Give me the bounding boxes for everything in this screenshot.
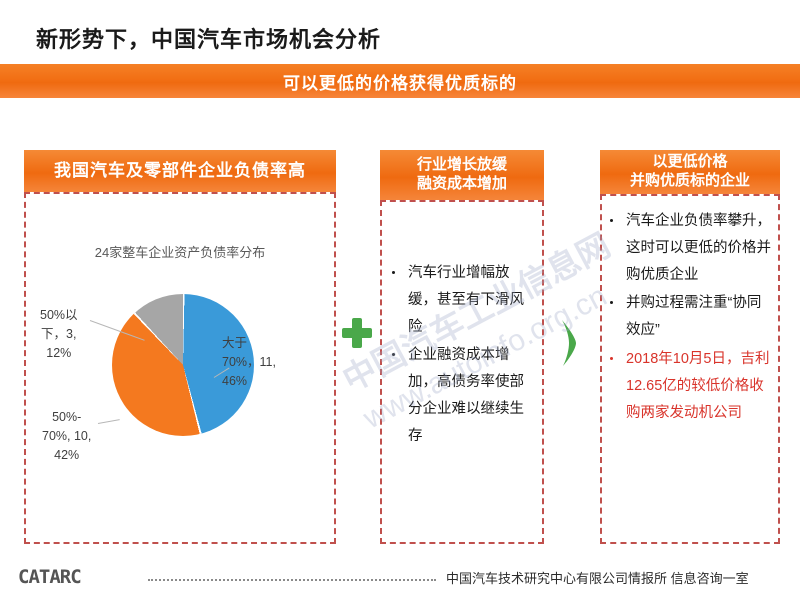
section-banner: 可以更低的价格获得优质标的 (0, 64, 800, 98)
plus-icon (342, 318, 372, 348)
pie-label-b-line2: 70%, 10, (42, 427, 91, 446)
panel-right-header-line1: 以更低价格 (630, 153, 750, 172)
chart-title: 24家整车企业资产负债率分布 (26, 242, 334, 261)
chevron-right-icon (556, 318, 582, 368)
pie-label-c-line1: 50%以 (40, 306, 78, 325)
pie-label-under-50: 50%以 下，3, 12% (40, 306, 78, 362)
pie-label-a-line2: 70%，11, (222, 353, 276, 372)
panel-middle-header-line1: 行业增长放缓 (417, 156, 507, 175)
slide-canvas: 新形势下，中国汽车市场机会分析 可以更低的价格获得优质标的 我国汽车及零部件企业… (0, 0, 800, 600)
pie-label-50-70: 50%- 70%, 10, 42% (42, 408, 91, 464)
footer: CATARC 中国汽车技术研究中心有限公司情报所 信息咨询一室 (0, 554, 800, 600)
panel-middle-header-line2: 融资成本增加 (417, 175, 507, 194)
panel-left-header: 我国汽车及零部件企业负债率高 (24, 150, 336, 192)
pie-label-c-line3: 12% (40, 344, 78, 363)
panel-left-body: 24家整车企业资产负债率分布 大于 70%，11, 46% 50%- 70%, … (24, 192, 336, 544)
pie-leader-line-b (98, 419, 120, 424)
pie-label-c-line2: 下，3, (40, 325, 78, 344)
panel-right-header-line2: 并购优质标的企业 (630, 172, 750, 191)
panel-left: 我国汽车及零部件企业负债率高 24家整车企业资产负债率分布 大于 70%，11,… (24, 150, 336, 544)
section-banner-label: 可以更低的价格获得优质标的 (283, 69, 517, 94)
list-item: 汽车企业负债率攀升，这时可以更低的价格并购优质企业 (606, 208, 772, 288)
catarc-logo: CATARC (18, 566, 81, 588)
panel-right-header: 以更低价格 并购优质标的企业 (600, 150, 780, 194)
panel-right: 以更低价格 并购优质标的企业 汽车企业负债率攀升，这时可以更低的价格并购优质企业… (600, 150, 780, 544)
pie-label-b-line1: 50%- (42, 408, 91, 427)
panel-right-bullet-list: 汽车企业负债率攀升，这时可以更低的价格并购优质企业 并购过程需注重“协同效应” … (606, 208, 772, 427)
panel-right-body: 汽车企业负债率攀升，这时可以更低的价格并购优质企业 并购过程需注重“协同效应” … (600, 194, 780, 544)
pie-label-greater-70: 大于 70%，11, 46% (222, 334, 276, 390)
pie-label-b-line3: 42% (42, 446, 91, 465)
pie-label-a-line1: 大于 (222, 334, 276, 353)
pie-label-a-line3: 46% (222, 372, 276, 391)
list-item: 汽车行业增幅放缓，甚至有下滑风险 (388, 260, 534, 340)
footer-divider (148, 579, 436, 581)
list-item: 并购过程需注重“协同效应” (606, 290, 772, 344)
panel-middle: 行业增长放缓 融资成本增加 汽车行业增幅放缓，甚至有下滑风险 企业融资成本增加，… (380, 150, 544, 544)
footer-text: 中国汽车技术研究中心有限公司情报所 信息咨询一室 (446, 568, 749, 587)
page-title: 新形势下，中国汽车市场机会分析 (36, 22, 381, 54)
list-item: 企业融资成本增加，高债务率使部分企业难以继续生存 (388, 342, 534, 449)
panel-middle-bullet-list: 汽车行业增幅放缓，甚至有下滑风险 企业融资成本增加，高债务率使部分企业难以继续生… (388, 260, 534, 450)
panel-middle-body: 汽车行业增幅放缓，甚至有下滑风险 企业融资成本增加，高债务率使部分企业难以继续生… (380, 200, 544, 544)
list-item-highlight: 2018年10月5日，吉利12.65亿的较低价格收购两家发动机公司 (606, 346, 772, 426)
panel-middle-header: 行业增长放缓 融资成本增加 (380, 150, 544, 200)
